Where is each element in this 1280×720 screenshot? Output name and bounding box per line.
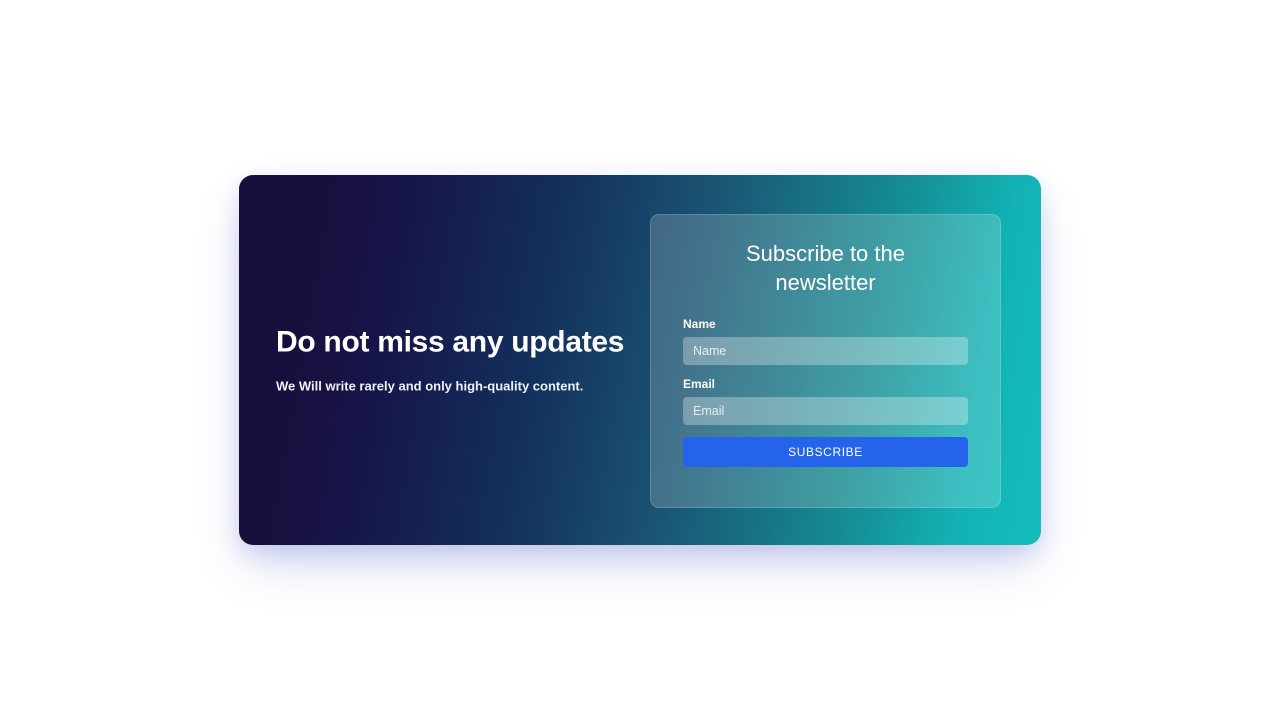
name-input[interactable] — [683, 337, 968, 365]
email-field-label: Email — [683, 377, 968, 391]
subscribe-heading: Subscribe to the newsletter — [683, 240, 968, 297]
email-input[interactable] — [683, 397, 968, 425]
promo-subtitle: We Will write rarely and only high-quali… — [276, 377, 656, 395]
newsletter-promo-card: Do not miss any updates We Will write ra… — [239, 175, 1041, 545]
page-title: Do not miss any updates — [276, 324, 656, 360]
promo-copy-block: Do not miss any updates We Will write ra… — [276, 324, 656, 395]
subscribe-button[interactable]: SUBSCRIBE — [683, 437, 968, 467]
name-field-label: Name — [683, 317, 968, 331]
name-field-group: Name — [683, 317, 968, 365]
email-field-group: Email — [683, 377, 968, 425]
subscribe-form-panel: Subscribe to the newsletter Name Email S… — [650, 214, 1001, 508]
